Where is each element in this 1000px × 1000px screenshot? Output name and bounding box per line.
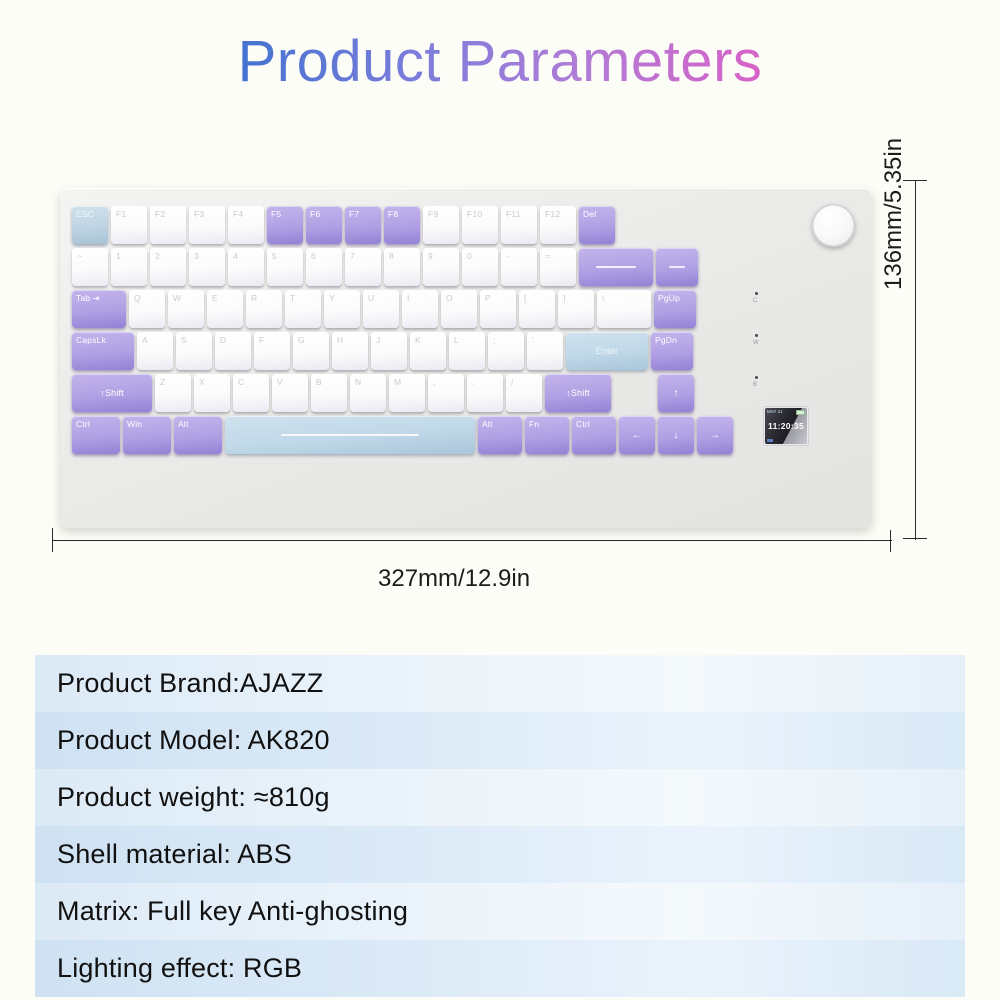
key-h[interactable]: H: [332, 332, 368, 370]
key-label: M: [393, 377, 401, 387]
key--[interactable]: ~: [72, 248, 108, 286]
spec-row-label: Product Model: AK820: [57, 725, 330, 756]
key-g[interactable]: G: [293, 332, 329, 370]
width-ext-left: [52, 528, 53, 542]
key-label: 8: [388, 251, 394, 261]
key-label: PgDn: [655, 335, 677, 345]
arrow-down-icon: ↓: [673, 430, 678, 441]
key-9[interactable]: 9: [423, 248, 459, 286]
key-capslk[interactable]: CapsLk: [72, 332, 134, 370]
key-z[interactable]: Z: [155, 374, 191, 412]
key-f[interactable]: F: [254, 332, 290, 370]
key-f11[interactable]: F11: [501, 206, 537, 244]
key-label: H: [336, 335, 343, 345]
key-m[interactable]: M: [389, 374, 425, 412]
key-label: F9: [427, 209, 438, 219]
key-f8[interactable]: F8: [384, 206, 420, 244]
key--[interactable]: \: [597, 290, 651, 328]
specification-table: Product Brand:AJAZZProduct Model: AK820P…: [35, 655, 965, 997]
key--[interactable]: ]: [558, 290, 594, 328]
key-alt[interactable]: Alt: [174, 416, 222, 454]
key-1[interactable]: 1: [111, 248, 147, 286]
key-label: A: [141, 335, 148, 345]
key-plate: ESCF1F2F3F4F5F6F7F8F9F10F11F12Del~123456…: [72, 202, 860, 502]
height-dim-line: [915, 180, 916, 540]
lcd-date: MAY 21: [767, 409, 783, 414]
led-label-1: C: [753, 298, 757, 304]
key-n[interactable]: N: [350, 374, 386, 412]
key-c[interactable]: C: [233, 374, 269, 412]
key-f9[interactable]: F9: [423, 206, 459, 244]
key-2[interactable]: 2: [150, 248, 186, 286]
key-label: Ctrl: [576, 419, 590, 429]
key-label: R: [250, 293, 257, 303]
key-j[interactable]: J: [371, 332, 407, 370]
led-label-2: W: [753, 340, 759, 346]
key-o[interactable]: O: [441, 290, 477, 328]
spec-row-label: Lighting effect: RGB: [57, 953, 302, 984]
key-label: ]: [562, 293, 566, 303]
arrow-right-icon: →: [710, 430, 720, 441]
key-label: ,: [432, 377, 436, 387]
key-label: 5: [271, 251, 277, 261]
key-label: Win: [127, 419, 142, 429]
key-label: ↑Shift: [566, 388, 590, 398]
key-label: .: [471, 377, 475, 387]
key-f4[interactable]: F4: [228, 206, 264, 244]
key--[interactable]: /: [506, 374, 542, 412]
key-t[interactable]: T: [285, 290, 321, 328]
key-label: I: [406, 293, 410, 303]
key-alt[interactable]: Alt: [478, 416, 522, 454]
lcd-time: 11:20:35: [765, 421, 807, 431]
width-dim-tick-right: [890, 530, 891, 552]
arrow-up-icon: ↑: [673, 388, 678, 399]
key-u[interactable]: U: [363, 290, 399, 328]
key-i[interactable]: I: [402, 290, 438, 328]
key-fn[interactable]: Fn: [525, 416, 569, 454]
key-label: 1: [115, 251, 121, 261]
key-f3[interactable]: F3: [189, 206, 225, 244]
key-f7[interactable]: F7: [345, 206, 381, 244]
key-label: 0: [466, 251, 472, 261]
spec-row-label: Product weight: ≈810g: [57, 782, 330, 813]
key-5[interactable]: 5: [267, 248, 303, 286]
key-bar-glyph: [596, 266, 637, 268]
key-label: P: [484, 293, 491, 303]
key-x[interactable]: X: [194, 374, 230, 412]
key-p[interactable]: P: [480, 290, 516, 328]
arrow-left-key[interactable]: ←: [619, 416, 655, 454]
key-label: B: [315, 377, 322, 387]
key-label: X: [198, 377, 205, 387]
key-e[interactable]: E: [207, 290, 243, 328]
key-win[interactable]: Win: [123, 416, 171, 454]
key-7[interactable]: 7: [345, 248, 381, 286]
space-key[interactable]: [225, 416, 475, 454]
tab-icon: ⇥: [92, 293, 99, 304]
key-f6[interactable]: F6: [306, 206, 342, 244]
key-label: Alt: [178, 419, 189, 429]
key--shift[interactable]: ↑Shift: [545, 374, 611, 412]
spec-row: Matrix: Full key Anti-ghosting: [35, 883, 965, 940]
key-label: Tab: [76, 293, 90, 303]
key--[interactable]: ': [527, 332, 563, 370]
key-label: =: [544, 251, 550, 261]
page-title: Product Parameters: [0, 28, 1000, 95]
spec-row: Shell material: ABS: [35, 826, 965, 883]
key-label: W: [172, 293, 181, 303]
key-label: F7: [349, 209, 359, 219]
lcd-display: MAY 21 11:20:35: [763, 406, 809, 446]
key-del[interactable]: Del: [579, 206, 615, 244]
key-ctrl[interactable]: Ctrl: [72, 416, 120, 454]
key-label: ': [531, 335, 534, 345]
key-label: 4: [232, 251, 238, 261]
key-bar-glyph: [281, 434, 419, 436]
key-f1[interactable]: F1: [111, 206, 147, 244]
key-label: K: [414, 335, 421, 345]
key-label: F12: [544, 209, 560, 219]
width-dimension-label: 327mm/12.9in: [378, 565, 530, 593]
key--[interactable]: .: [467, 374, 503, 412]
key--shift[interactable]: ↑Shift: [72, 374, 152, 412]
led-indicator-1: [755, 292, 758, 295]
key-label: [: [523, 293, 527, 303]
key-tab[interactable]: Tab⇥: [72, 290, 126, 328]
key-label: Q: [133, 293, 141, 303]
key-label: Del: [583, 209, 596, 219]
key-q[interactable]: Q: [129, 290, 165, 328]
key-label: F4: [232, 209, 243, 219]
key-label: /: [510, 377, 514, 387]
key-label: D: [219, 335, 226, 345]
key--[interactable]: =: [540, 248, 576, 286]
key-label: ESC: [76, 209, 94, 219]
height-dim-tick-bottom: [903, 538, 927, 539]
spec-row: Product Brand:AJAZZ: [35, 655, 965, 712]
key-label: Z: [159, 377, 165, 387]
key-label: T: [289, 293, 295, 303]
key-esc[interactable]: ESC: [72, 206, 108, 244]
arrow-up-key[interactable]: ↑: [658, 374, 694, 412]
key-label: F6: [310, 209, 320, 219]
led-indicator-2: [755, 334, 758, 337]
key-label: J: [375, 335, 380, 345]
key-bar-glyph: [669, 266, 684, 268]
key-label: F11: [505, 209, 521, 219]
lcd-status-icon: [767, 439, 773, 442]
key-label: 6: [310, 251, 316, 261]
key-label: V: [276, 377, 283, 387]
battery-icon: [796, 410, 805, 415]
spec-row: Product weight: ≈810g: [35, 769, 965, 826]
key-label: Enter: [596, 346, 619, 356]
key-8[interactable]: 8: [384, 248, 420, 286]
spec-row-label: Shell material: ABS: [57, 839, 292, 870]
key-6[interactable]: 6: [306, 248, 342, 286]
key-f12[interactable]: F12: [540, 206, 576, 244]
key-label: E: [211, 293, 218, 303]
key-label: F1: [115, 209, 126, 219]
key-label: O: [445, 293, 453, 303]
key-label: F10: [466, 209, 482, 219]
key-label: F5: [271, 209, 281, 219]
key-label: S: [180, 335, 187, 345]
key-label: G: [297, 335, 305, 345]
key-w[interactable]: W: [168, 290, 204, 328]
arrow-down-key[interactable]: ↓: [658, 416, 694, 454]
key-label: Fn: [529, 419, 539, 429]
key-label: 7: [349, 251, 355, 261]
height-dimension-label: 136mm/5.35in: [880, 138, 908, 290]
key-pgup[interactable]: PgUp: [654, 290, 696, 328]
key-label: ↑Shift: [100, 388, 124, 398]
led-label-3: B: [753, 382, 757, 388]
key--[interactable]: ;: [488, 332, 524, 370]
volume-knob[interactable]: [812, 204, 855, 247]
key-label: F3: [193, 209, 204, 219]
key-label: PgUp: [658, 293, 680, 303]
key-s[interactable]: S: [176, 332, 212, 370]
key--[interactable]: ,: [428, 374, 464, 412]
key-label: 9: [427, 251, 433, 261]
key-label: U: [367, 293, 374, 303]
keyboard-product-image: ESCF1F2F3F4F5F6F7F8F9F10F11F12Del~123456…: [60, 188, 872, 528]
key-label: Alt: [482, 419, 493, 429]
led-indicator-3: [755, 376, 758, 379]
key-label: Y: [328, 293, 335, 303]
key-f2[interactable]: F2: [150, 206, 186, 244]
key-a[interactable]: A: [137, 332, 173, 370]
width-dim-line: [52, 540, 892, 541]
key-label: L: [453, 335, 459, 345]
key-label: Ctrl: [76, 419, 90, 429]
key-y[interactable]: Y: [324, 290, 360, 328]
key-label: \: [601, 293, 605, 303]
key-label: F: [258, 335, 264, 345]
key-label: ;: [492, 335, 496, 345]
spec-row-label: Matrix: Full key Anti-ghosting: [57, 896, 408, 927]
arrow-left-icon: ←: [632, 430, 642, 441]
key-f5[interactable]: F5: [267, 206, 303, 244]
spec-row: Lighting effect: RGB: [35, 940, 965, 997]
key-label: 3: [193, 251, 199, 261]
key-pgdn[interactable]: PgDn: [651, 332, 693, 370]
arrow-right-key[interactable]: →: [697, 416, 733, 454]
spec-row: Product Model: AK820: [35, 712, 965, 769]
ins-key[interactable]: [656, 248, 698, 286]
key-ctrl[interactable]: Ctrl: [572, 416, 616, 454]
key-label: C: [237, 377, 244, 387]
key-r[interactable]: R: [246, 290, 282, 328]
key-label: F8: [388, 209, 398, 219]
key-l[interactable]: L: [449, 332, 485, 370]
key-v[interactable]: V: [272, 374, 308, 412]
key-label: CapsLk: [76, 335, 106, 345]
key-k[interactable]: K: [410, 332, 446, 370]
backspace-key[interactable]: [579, 248, 653, 286]
key-label: F2: [154, 209, 165, 219]
lcd-screen: MAY 21 11:20:35: [765, 408, 807, 444]
key-f10[interactable]: F10: [462, 206, 498, 244]
key-d[interactable]: D: [215, 332, 251, 370]
key--[interactable]: [: [519, 290, 555, 328]
key-4[interactable]: 4: [228, 248, 264, 286]
key-label: -: [505, 251, 509, 261]
spec-row-label: Product Brand:AJAZZ: [57, 668, 323, 699]
key-label: ~: [76, 251, 82, 261]
key-0[interactable]: 0: [462, 248, 498, 286]
key-3[interactable]: 3: [189, 248, 225, 286]
key-label: N: [354, 377, 361, 387]
key-enter[interactable]: Enter: [566, 332, 648, 370]
key--[interactable]: -: [501, 248, 537, 286]
key-label: 2: [154, 251, 160, 261]
key-b[interactable]: B: [311, 374, 347, 412]
